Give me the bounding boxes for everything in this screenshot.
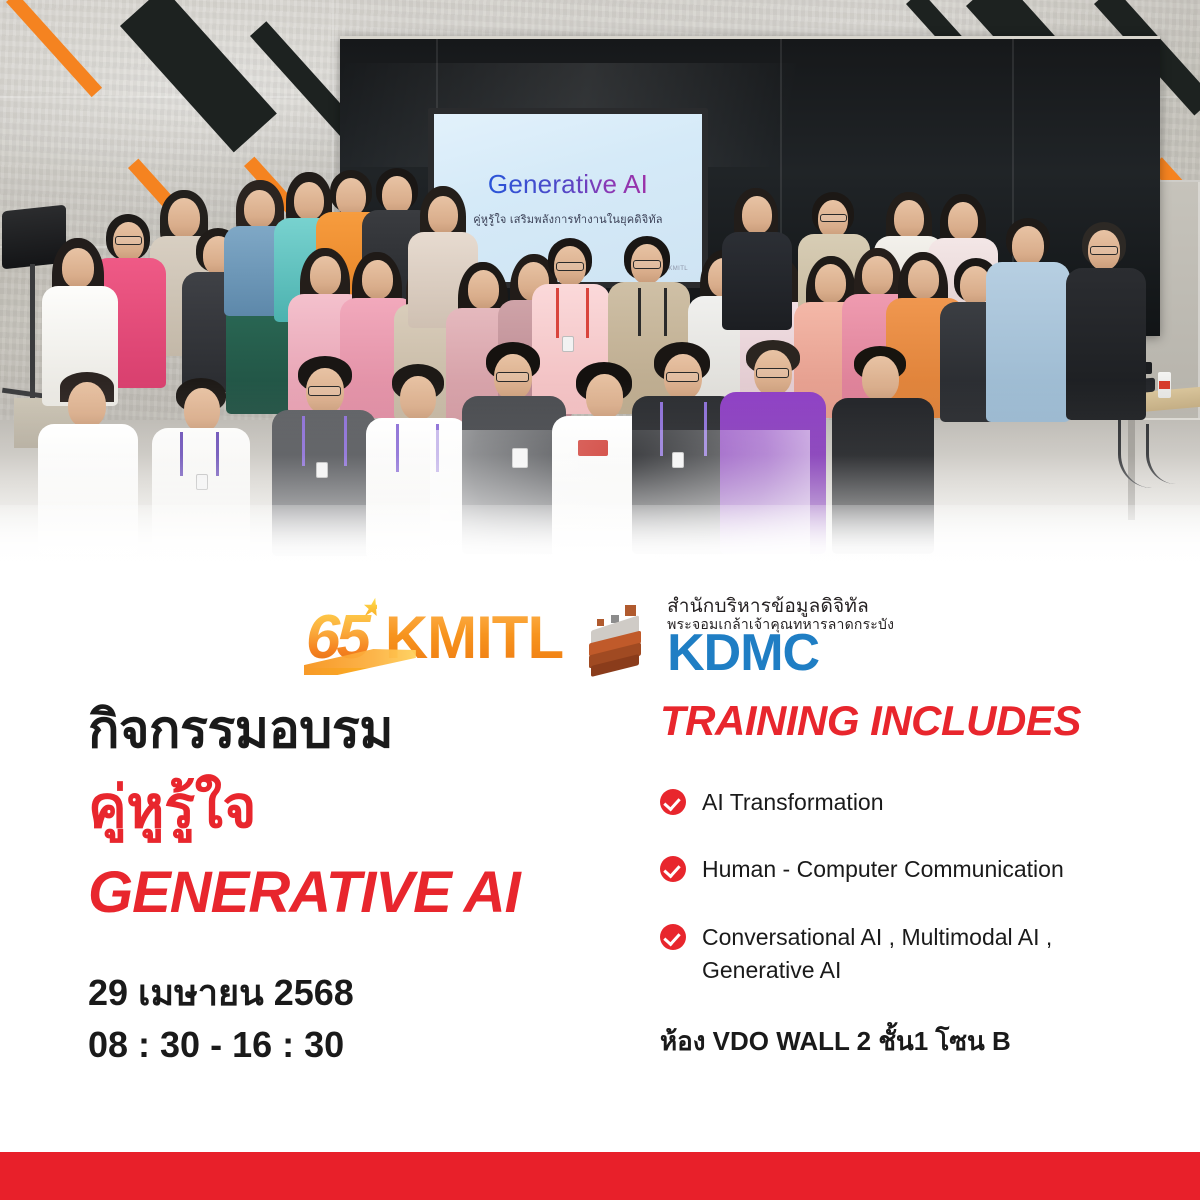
slide-title: Generative AI [488,169,648,200]
kdmc-thai-line-1: สำนักบริหารข้อมูลดิจิทัล [667,597,894,616]
kdmc-logo: สำนักบริหารข้อมูลดิจิทัล พระจอมเกล้าเจ้า… [587,597,894,679]
list-item-label: Conversational AI , Multimodal AI , Gene… [702,921,1160,988]
event-title-english: GENERATIVE AI [88,861,648,925]
training-includes-heading: TRAINING INCLUDES [660,700,1160,742]
speaker-stand [30,264,35,399]
kmitl-wordmark: KMITL [385,608,563,668]
event-kicker: กิจกรรมอบรม [88,700,648,761]
photo-stage: Generative AI คู่หูรู้ใจ เสริมพลังการทำง… [0,0,1200,600]
kdmc-cube-icon [587,603,659,673]
training-includes-list: AI Transformation Human - Computer Commu… [660,786,1160,987]
list-item: AI Transformation [660,786,1160,819]
event-details-column: กิจกรรมอบรม คู่หูรู้ใจ GENERATIVE AI 29 … [88,700,648,1071]
bottom-accent-bar [0,1152,1200,1200]
slide-subtitle: คู่หูรู้ใจ เสริมพลังการทำงานในยุคดิจิทัล [473,210,663,228]
list-item: Human - Computer Communication [660,853,1160,886]
event-room-location: ห้อง VDO WALL 2 ชั้น1 โซน B [660,1021,1160,1062]
kdmc-text-block: สำนักบริหารข้อมูลดิจิทัล พระจอมเกล้าเจ้า… [667,597,894,679]
star-icon: ★ [361,597,377,619]
logo-row: 65 ★ KMITL สำนักบริหารข้อมูลดิจิทัล พระจ… [0,588,1200,688]
hero-photo-banner: Generative AI คู่หูรู้ใจ เสริมพลังการทำง… [0,0,1200,600]
water-bottle [1158,372,1171,398]
kmitl-logo: 65 ★ KMITL [306,607,563,669]
check-circle-icon [660,789,686,815]
list-item-label: AI Transformation [702,786,884,819]
kmitl-65-anniversary: 65 ★ [306,607,373,669]
event-time: 08 : 30 - 16 : 30 [88,1019,648,1071]
event-date: 29 เมษายน 2568 [88,967,648,1019]
training-includes-column: TRAINING INCLUDES AI Transformation Huma… [660,700,1160,1062]
kdmc-wordmark: KDMC [667,627,894,679]
slide-corner-logo: KMITL [668,266,688,272]
event-title-thai: คู่หูรู้ใจ [88,773,648,843]
list-item: Conversational AI , Multimodal AI , Gene… [660,921,1160,988]
poster-content: กิจกรรมอบรม คู่หูรู้ใจ GENERATIVE AI 29 … [0,700,1200,1152]
check-circle-icon [660,856,686,882]
check-circle-icon [660,924,686,950]
list-item-label: Human - Computer Communication [702,853,1064,886]
